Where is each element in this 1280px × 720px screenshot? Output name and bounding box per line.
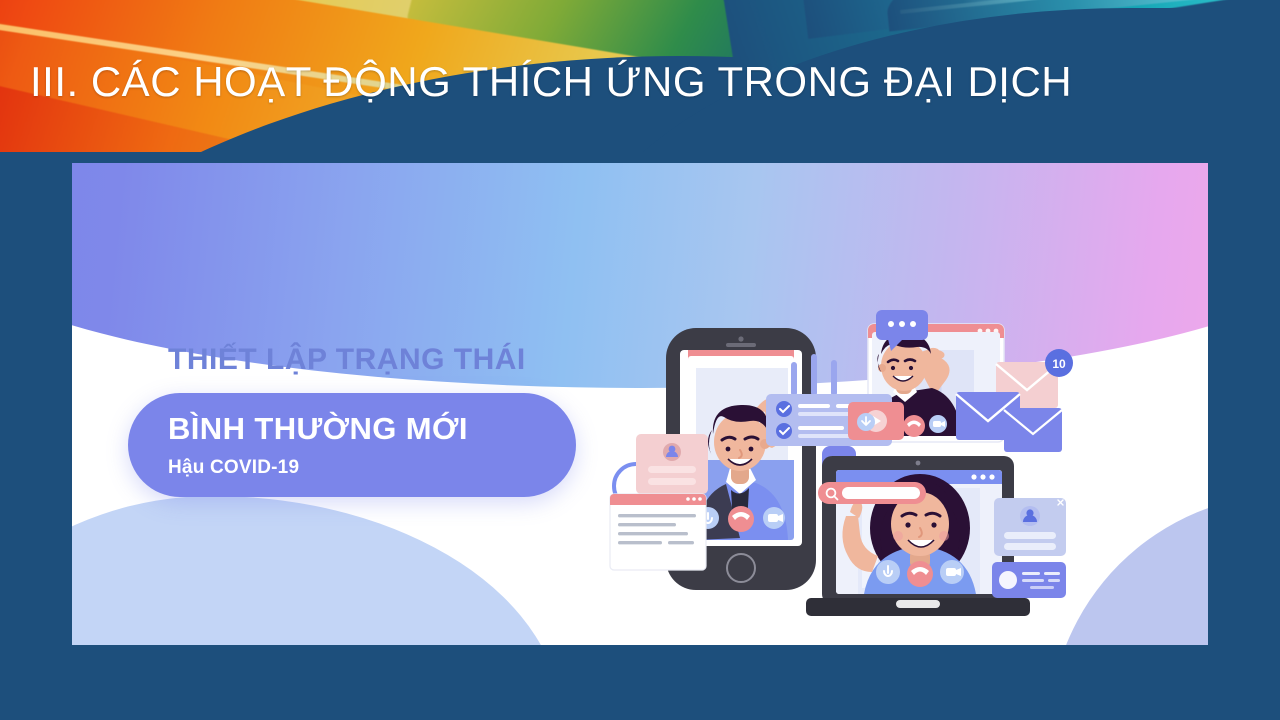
mail-unread-badge: 10 — [1045, 349, 1073, 377]
end-call-icon — [907, 561, 933, 587]
text-card-window — [610, 494, 706, 570]
infographic-headline: THIẾT LẬP TRẠNG THÁI — [168, 343, 526, 377]
mail-unread-count: 10 — [1052, 357, 1066, 371]
phone-call-controls — [697, 506, 785, 532]
check-icon-1 — [776, 401, 792, 417]
infographic-pill-title: BÌNH THƯỜNG MỚI — [168, 411, 468, 447]
end-call-icon — [728, 506, 754, 532]
laptop-camera — [916, 461, 921, 466]
infographic-pill-subtitle: Hậu COVID-19 — [168, 457, 299, 479]
video-call-devices-illustration: 10 — [600, 310, 1120, 650]
laptop-call-controls — [876, 560, 964, 587]
download-chip — [857, 413, 875, 431]
profile-card — [994, 498, 1066, 556]
infographic-blob-bottom-left — [72, 496, 562, 645]
phone-camera — [738, 336, 743, 341]
check-icon-2 — [776, 423, 792, 439]
laptop-trackpad — [896, 600, 940, 608]
video-play-card — [848, 402, 904, 440]
envelope-blue-small — [1004, 408, 1062, 452]
message-card — [992, 562, 1066, 598]
slide-title: III. CÁC HOẠT ĐỘNG THÍCH ỨNG TRONG ĐẠI D… — [30, 58, 1250, 106]
phone-speaker — [726, 343, 756, 347]
slide: III. CÁC HOẠT ĐỘNG THÍCH ỨNG TRONG ĐẠI D… — [0, 0, 1280, 720]
search-bar — [818, 482, 926, 504]
end-call-icon — [903, 415, 925, 437]
